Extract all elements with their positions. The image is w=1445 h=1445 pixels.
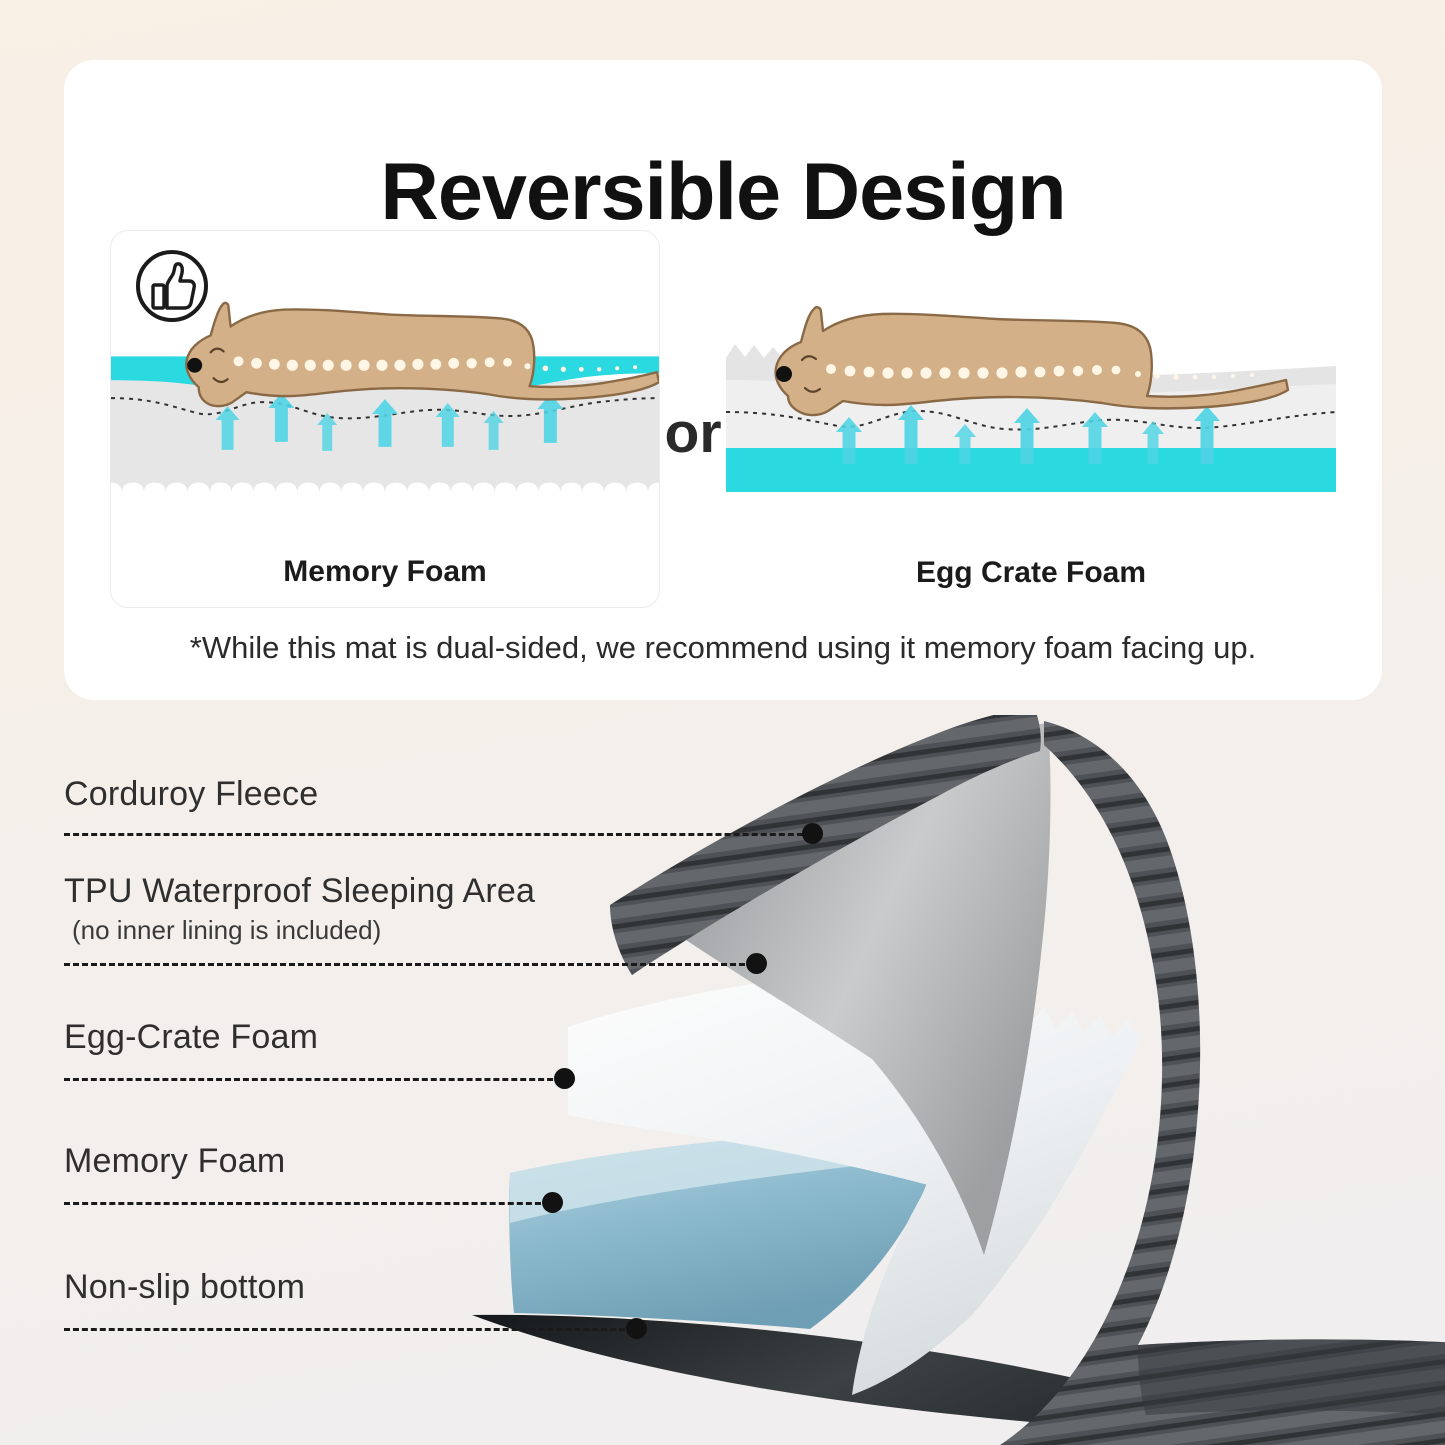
leader-dot-egg-crate-foam <box>554 1068 575 1089</box>
dog-nose <box>187 358 202 373</box>
layer-label-non-slip-bottom: Non-slip bottom <box>64 1268 305 1307</box>
leader-line-non-slip-bottom <box>64 1328 634 1331</box>
leader-dot-corduroy-fleece <box>802 823 823 844</box>
leader-line-memory-foam <box>64 1202 550 1205</box>
page-title: Reversible Design <box>64 146 1382 239</box>
leader-line-egg-crate-foam <box>64 1078 562 1081</box>
layer-label-egg-crate-foam: Egg-Crate Foam <box>64 1018 318 1057</box>
leader-dot-memory-foam <box>542 1192 563 1213</box>
leader-dot-tpu <box>746 953 767 974</box>
leader-line-tpu <box>64 963 754 966</box>
egg-crate-foam-diagram <box>726 230 1336 608</box>
footnote-text: *While this mat is dual-sided, we recomm… <box>64 630 1382 666</box>
or-separator: or <box>660 400 726 466</box>
layer-label-corduroy-fleece: Corduroy Fleece <box>64 775 318 814</box>
layer-label-tpu: TPU Waterproof Sleeping Area (no inner l… <box>64 872 535 946</box>
panel-caption-memory-foam: Memory Foam <box>111 555 659 589</box>
leader-dot-non-slip-bottom <box>626 1318 647 1339</box>
leader-line-corduroy-fleece <box>64 833 812 836</box>
panel-memory-foam: Memory Foam <box>110 230 660 608</box>
thumbs-up-icon <box>133 247 211 325</box>
panel-caption-egg-crate-foam: Egg Crate Foam <box>726 556 1336 590</box>
reversible-design-card: Reversible Design <box>64 60 1382 700</box>
dog-nose <box>776 366 792 382</box>
layer-label-memory-foam: Memory Foam <box>64 1142 285 1181</box>
panel-egg-crate-foam: Egg Crate Foam <box>726 230 1336 608</box>
